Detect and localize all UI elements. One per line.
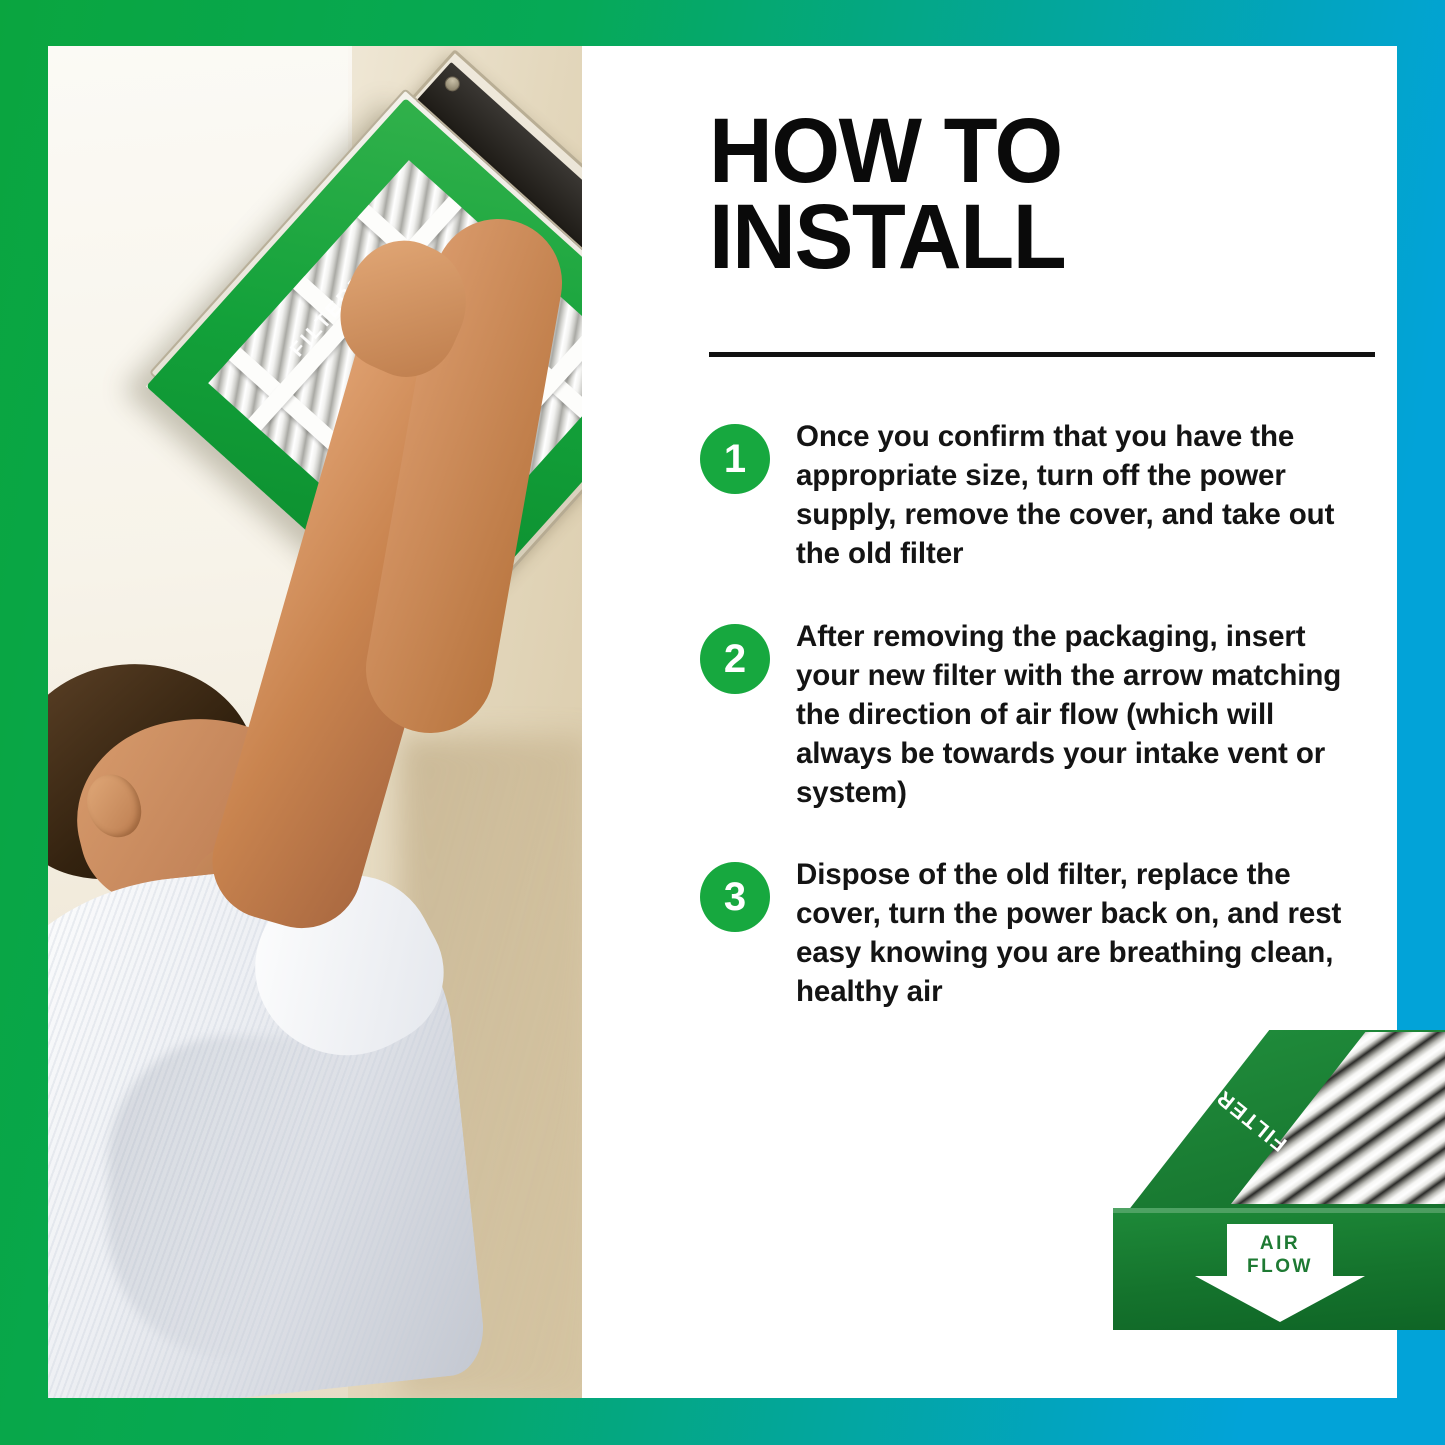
installation-photo: FILTERBUY FILTERBUY xyxy=(48,46,582,1398)
air-flow-arrow-icon: AIR FLOW xyxy=(1195,1224,1365,1320)
step-description: Once you confirm that you have the appro… xyxy=(796,418,1372,574)
title-divider xyxy=(709,352,1375,357)
tshirt-fold-shading xyxy=(108,1036,408,1356)
arrow-head xyxy=(1195,1276,1365,1322)
step-description: After removing the packaging, insert you… xyxy=(796,618,1372,813)
steps-list: 1 Once you confirm that you have the app… xyxy=(700,418,1397,1056)
air-flow-label-line-2: FLOW xyxy=(1247,1256,1313,1277)
product-filter-image: FILTERBUY AIR FLOW xyxy=(1113,1030,1445,1350)
step-item: 1 Once you confirm that you have the app… xyxy=(700,418,1397,574)
page-title-line-2: INSTALL xyxy=(709,186,1065,288)
page-title: HOW TO INSTALL xyxy=(709,108,1323,281)
step-item: 3 Dispose of the old filter, replace the… xyxy=(700,856,1397,1012)
air-flow-label: AIR FLOW xyxy=(1195,1232,1365,1278)
step-number-badge: 1 xyxy=(700,424,770,494)
person-installing-filter xyxy=(48,646,518,1398)
filter-front-highlight xyxy=(1113,1208,1445,1213)
infographic-root: FILTERBUY FILTERBUY xyxy=(0,0,1445,1445)
step-description: Dispose of the old filter, replace the c… xyxy=(796,856,1372,1012)
filter-front-face: AIR FLOW xyxy=(1113,1208,1445,1330)
step-number-badge: 3 xyxy=(700,862,770,932)
air-flow-label-line-1: AIR xyxy=(1260,1233,1300,1254)
step-item: 2 After removing the packaging, insert y… xyxy=(700,618,1397,813)
step-number-badge: 2 xyxy=(700,624,770,694)
